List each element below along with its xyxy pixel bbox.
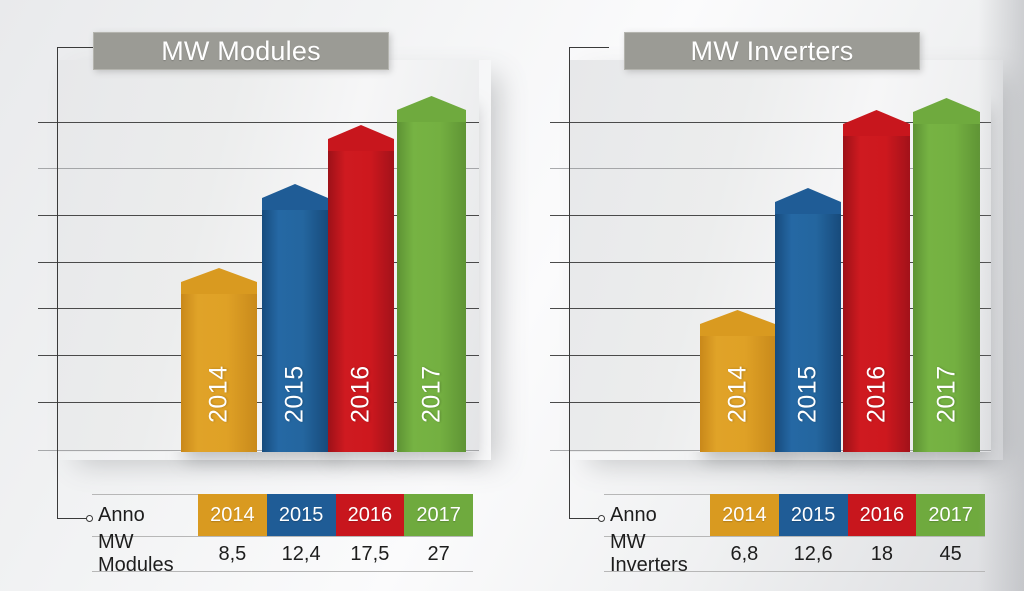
row-label-anno: Anno <box>92 494 198 536</box>
table-rule-bottom <box>92 571 473 572</box>
year-cell-2015[interactable]: 2015 <box>779 494 848 536</box>
table-row-years: Anno 2014 2015 2016 2017 <box>604 494 985 536</box>
bar-year-label: 2017 <box>932 348 962 440</box>
bar-2014[interactable]: 2014 <box>700 310 775 452</box>
year-cell-2015[interactable]: 2015 <box>267 494 336 536</box>
bar-arrow-cap-icon <box>262 184 328 211</box>
chart-title-box-mw-modules: MW Modules <box>93 32 389 70</box>
bar-year-label: 2016 <box>862 348 892 440</box>
bar-arrow-cap-icon <box>913 98 980 125</box>
bar-2015[interactable]: 2015 <box>775 188 841 452</box>
connector-line-vertical <box>57 47 58 519</box>
bar-arrow-cap-icon <box>397 96 466 123</box>
table-rule-bottom <box>604 571 985 572</box>
bar-year-label: 2015 <box>280 348 310 440</box>
data-table-mw-modules: Anno 2014 2015 2016 2017 MW Modules 8,5 … <box>92 494 473 572</box>
value-cell-2014: 6,8 <box>710 537 779 571</box>
value-cell-2017: 45 <box>916 537 985 571</box>
table-row-values: MW Inverters 6,8 12,6 18 45 <box>604 537 985 571</box>
bar-arrow-cap-icon <box>181 268 257 295</box>
value-cell-2015: 12,4 <box>267 537 336 571</box>
bar-2014[interactable]: 2014 <box>181 268 257 452</box>
bar-year-label: 2015 <box>793 348 823 440</box>
bar-2017[interactable]: 2017 <box>397 96 466 452</box>
value-cell-2017: 27 <box>404 537 473 571</box>
table-row-years: Anno 2014 2015 2016 2017 <box>92 494 473 536</box>
row-label-metric: MW Inverters <box>604 537 710 571</box>
year-cell-2017[interactable]: 2017 <box>404 494 473 536</box>
value-cell-2015: 12,6 <box>779 537 848 571</box>
data-table-mw-inverters: Anno 2014 2015 2016 2017 MW Inverters 6,… <box>604 494 985 572</box>
year-cell-2016[interactable]: 2016 <box>848 494 917 536</box>
table-row-values: MW Modules 8,5 12,4 17,5 27 <box>92 537 473 571</box>
bar-2016[interactable]: 2016 <box>328 125 394 452</box>
row-label-metric: MW Modules <box>92 537 198 571</box>
bar-year-label: 2014 <box>723 348 753 440</box>
plot-area-mw-inverters: 2014 2015 20 <box>569 60 991 452</box>
bar-arrow-cap-icon <box>775 188 841 215</box>
chart-title-box-mw-inverters: MW Inverters <box>624 32 920 70</box>
bar-2015[interactable]: 2015 <box>262 184 328 452</box>
year-cell-2017[interactable]: 2017 <box>916 494 985 536</box>
bar-year-label: 2016 <box>346 348 376 440</box>
year-cell-2016[interactable]: 2016 <box>336 494 405 536</box>
connector-line-top <box>569 47 609 48</box>
connector-line-top <box>57 47 97 48</box>
bar-arrow-cap-icon <box>328 125 394 152</box>
row-label-anno: Anno <box>604 494 710 536</box>
infographic-stage: 2014 2015 20 <box>0 0 1024 591</box>
chart-panel-mw-inverters: 2014 2015 20 <box>512 0 1024 591</box>
value-cell-2014: 8,5 <box>198 537 267 571</box>
chart-panel-mw-modules: 2014 2015 20 <box>0 0 512 591</box>
bar-year-label: 2014 <box>204 348 234 440</box>
year-cell-2014[interactable]: 2014 <box>710 494 779 536</box>
bar-2016[interactable]: 2016 <box>843 110 910 452</box>
chart-title: MW Inverters <box>691 36 854 67</box>
value-cell-2016: 17,5 <box>336 537 405 571</box>
chart-title: MW Modules <box>161 36 321 67</box>
year-cell-2014[interactable]: 2014 <box>198 494 267 536</box>
bar-2017[interactable]: 2017 <box>913 98 980 452</box>
bar-arrow-cap-icon <box>700 310 775 337</box>
connector-line-vertical <box>569 47 570 519</box>
plot-area-mw-modules: 2014 2015 20 <box>57 60 479 452</box>
bar-arrow-cap-icon <box>843 110 910 137</box>
value-cell-2016: 18 <box>848 537 917 571</box>
bar-year-label: 2017 <box>417 348 447 440</box>
